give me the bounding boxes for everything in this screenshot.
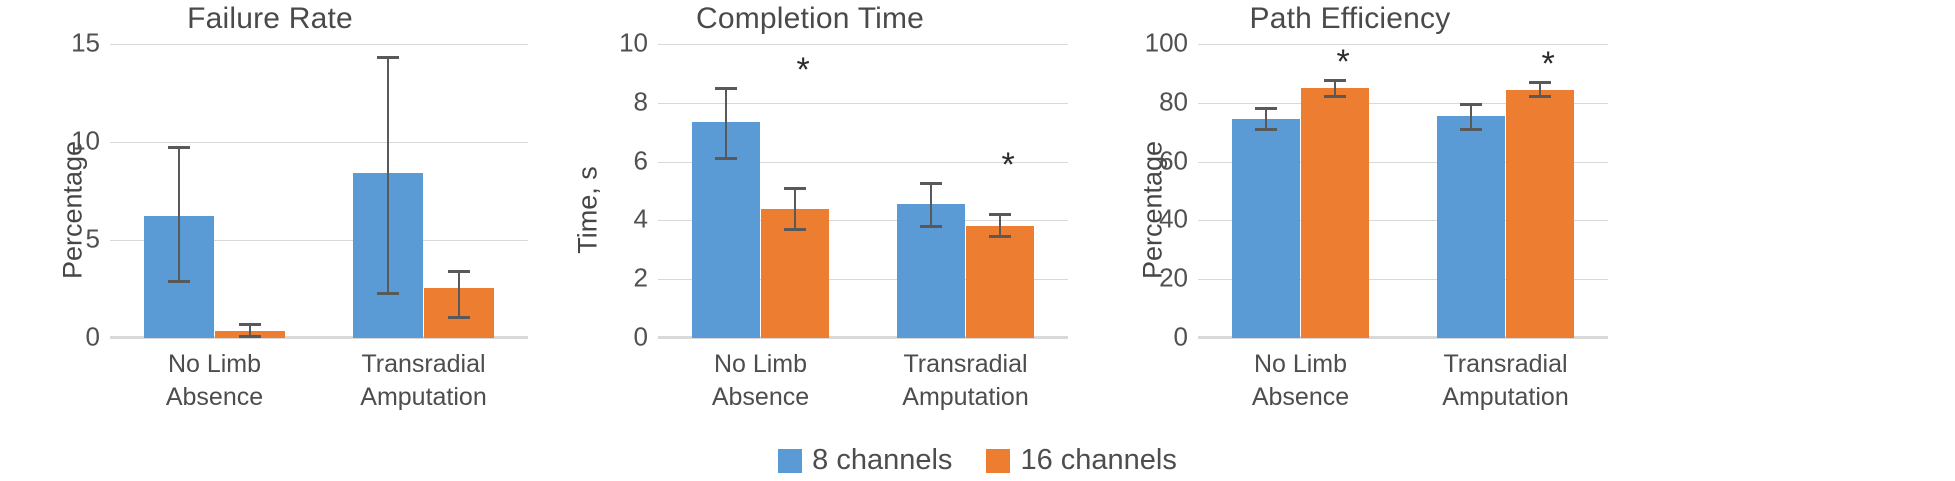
x-axis-category-label: TransradialAmputation — [1442, 348, 1568, 414]
y-axis-tick-label: 8 — [634, 86, 648, 117]
gridline — [658, 44, 1068, 45]
y-axis-tick-label: 4 — [634, 204, 648, 235]
x-axis-category-label-line: Amputation — [902, 381, 1028, 414]
error-bar-cap-upper — [448, 270, 470, 273]
y-axis-tick-label: 0 — [86, 321, 100, 352]
error-bar — [794, 187, 796, 231]
error-bar-cap-lower — [1460, 128, 1482, 131]
gridline — [1198, 338, 1608, 339]
error-bar-cap-upper — [920, 182, 942, 185]
y-axis-tick-label: 10 — [71, 125, 100, 156]
y-axis-tick-label: 60 — [1159, 145, 1188, 176]
error-bar — [1470, 103, 1472, 131]
error-bar-cap-upper — [715, 87, 737, 90]
chart-panel-completion-time: Completion Time Time, s 0246810** No Lim… — [540, 0, 1080, 420]
error-bar-cap-lower — [377, 292, 399, 295]
figure-canvas: Failure Rate Percentage 051015 No LimbAb… — [0, 0, 1955, 481]
bar-16-channels-2[interactable] — [1506, 90, 1575, 338]
plot-area: 051015 — [110, 44, 528, 338]
y-axis-tick-label: 0 — [634, 321, 648, 352]
significance-marker: * — [796, 53, 809, 87]
bar-8-channels-1[interactable] — [1232, 119, 1301, 338]
gridline — [110, 142, 528, 143]
chart-panel-failure-rate: Failure Rate Percentage 051015 No LimbAb… — [0, 0, 540, 420]
gridline — [658, 338, 1068, 339]
error-bar-cap-lower — [448, 316, 470, 319]
legend-item[interactable]: 8 channels — [778, 444, 952, 477]
gridline — [110, 44, 528, 45]
error-bar-cap-upper — [1460, 103, 1482, 106]
significance-marker: * — [1336, 45, 1349, 79]
x-axis-category-label-line: Transradial — [902, 348, 1028, 381]
error-bar-cap-lower — [715, 157, 737, 160]
y-axis-tick-label: 80 — [1159, 86, 1188, 117]
x-axis-category-label: No LimbAbsence — [166, 348, 263, 414]
y-axis-title: Percentage — [58, 141, 89, 279]
x-axis-category-label: No LimbAbsence — [1252, 348, 1349, 414]
error-bar-cap-lower — [1255, 128, 1277, 131]
error-bar-cap-lower — [1324, 95, 1346, 98]
y-axis-tick-label: 2 — [634, 262, 648, 293]
legend-label: 16 channels — [1020, 444, 1176, 477]
chart-panel-path-efficiency: Path Efficiency Percentage 020406080100*… — [1080, 0, 1620, 420]
x-axis-category-label-line: No Limb — [1252, 348, 1349, 381]
error-bar — [458, 270, 460, 319]
x-axis-category-label-line: Transradial — [360, 348, 486, 381]
bar-8-channels-2[interactable] — [1437, 116, 1506, 338]
error-bar-cap-upper — [1255, 107, 1277, 110]
x-axis-category-label: TransradialAmputation — [902, 348, 1028, 414]
gridline — [658, 103, 1068, 104]
significance-marker: * — [1541, 47, 1554, 81]
error-bar — [387, 56, 389, 295]
legend-item[interactable]: 16 channels — [986, 444, 1176, 477]
x-axis-category-label-line: Amputation — [1442, 381, 1568, 414]
error-bar-cap-upper — [989, 213, 1011, 216]
error-bar-cap-lower — [239, 335, 261, 338]
plot-area: 020406080100** — [1198, 44, 1608, 338]
x-axis-category-label: TransradialAmputation — [360, 348, 486, 414]
significance-marker: * — [1001, 148, 1014, 182]
chart-legend: 8 channels16 channels — [0, 444, 1955, 477]
x-axis-category-label-line: Transradial — [1442, 348, 1568, 381]
legend-label: 8 channels — [812, 444, 952, 477]
bar-16-channels-1[interactable] — [1301, 88, 1370, 338]
plot-area: 0246810** — [658, 44, 1068, 338]
x-axis-category-label-line: Absence — [712, 381, 809, 414]
error-bar-cap-upper — [784, 187, 806, 190]
x-axis-category-label-line: No Limb — [712, 348, 809, 381]
y-axis-title: Time, s — [572, 166, 603, 254]
error-bar-cap-upper — [168, 146, 190, 149]
x-axis-category-label: No LimbAbsence — [712, 348, 809, 414]
error-bar-cap-upper — [377, 56, 399, 59]
error-bar-cap-lower — [920, 225, 942, 228]
error-bar-cap-lower — [1529, 95, 1551, 98]
y-axis-tick-label: 6 — [634, 145, 648, 176]
error-bar — [178, 146, 180, 283]
error-bar-cap-lower — [784, 228, 806, 231]
error-bar-cap-lower — [989, 235, 1011, 238]
legend-swatch-blue — [778, 449, 802, 473]
x-axis-category-label-line: Absence — [1252, 381, 1349, 414]
error-bar-cap-upper — [239, 323, 261, 326]
error-bar — [930, 182, 932, 228]
y-axis-tick-label: 40 — [1159, 204, 1188, 235]
error-bar-cap-lower — [168, 280, 190, 283]
y-axis-tick-label: 15 — [71, 27, 100, 58]
legend-swatch-orange — [986, 449, 1010, 473]
gridline — [110, 338, 528, 339]
x-axis-category-label-line: Absence — [166, 381, 263, 414]
y-axis-tick-label: 10 — [619, 27, 648, 58]
y-axis-tick-label: 100 — [1145, 27, 1188, 58]
error-bar — [725, 87, 727, 161]
y-axis-tick-label: 20 — [1159, 262, 1188, 293]
x-axis-category-label-line: Amputation — [360, 381, 486, 414]
y-axis-tick-label: 0 — [1174, 321, 1188, 352]
y-axis-tick-label: 5 — [86, 223, 100, 254]
x-axis-category-label-line: No Limb — [166, 348, 263, 381]
bar-16-channels-2[interactable] — [966, 226, 1035, 338]
